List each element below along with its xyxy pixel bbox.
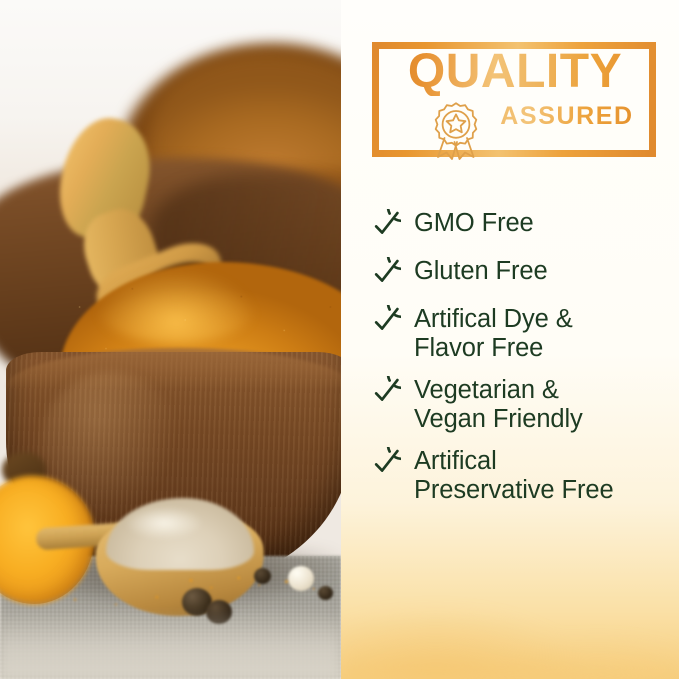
pale-powder-highlight	[124, 506, 204, 540]
assured-subheadline: ASSURED	[491, 104, 643, 129]
feature-item-artifical-dye-flavor-free: Artifical Dye &Flavor Free	[367, 304, 667, 362]
feature-label: ArtificalPreservative Free	[414, 446, 614, 504]
circle-check-icon	[367, 257, 401, 291]
scattered-turmeric-powder	[0, 560, 341, 620]
feature-checklist: GMO Free Gluten Free	[367, 208, 667, 504]
circle-check-icon	[367, 447, 401, 481]
product-feature-infographic: QUALITY ASSURED	[0, 0, 679, 679]
feature-label: Vegetarian &Vegan Friendly	[414, 375, 583, 433]
quality-headline: QUALITY	[387, 48, 643, 96]
feature-panel: QUALITY ASSURED	[341, 0, 679, 679]
feature-item-gluten-free: Gluten Free	[367, 256, 667, 291]
product-photo	[0, 0, 341, 679]
feature-item-gmo-free: GMO Free	[367, 208, 667, 243]
feature-label: Artifical Dye &Flavor Free	[414, 304, 573, 362]
award-rosette-star-icon	[428, 100, 484, 162]
foreground-blur	[0, 612, 341, 679]
feature-item-vegetarian-vegan-friendly: Vegetarian &Vegan Friendly	[367, 375, 667, 433]
feature-label: Gluten Free	[414, 256, 548, 286]
feature-label: GMO Free	[414, 208, 534, 238]
feature-item-artifical-preservative-free: ArtificalPreservative Free	[367, 446, 667, 504]
circle-check-icon	[367, 376, 401, 410]
circle-check-icon	[367, 209, 401, 243]
circle-check-icon	[367, 305, 401, 339]
